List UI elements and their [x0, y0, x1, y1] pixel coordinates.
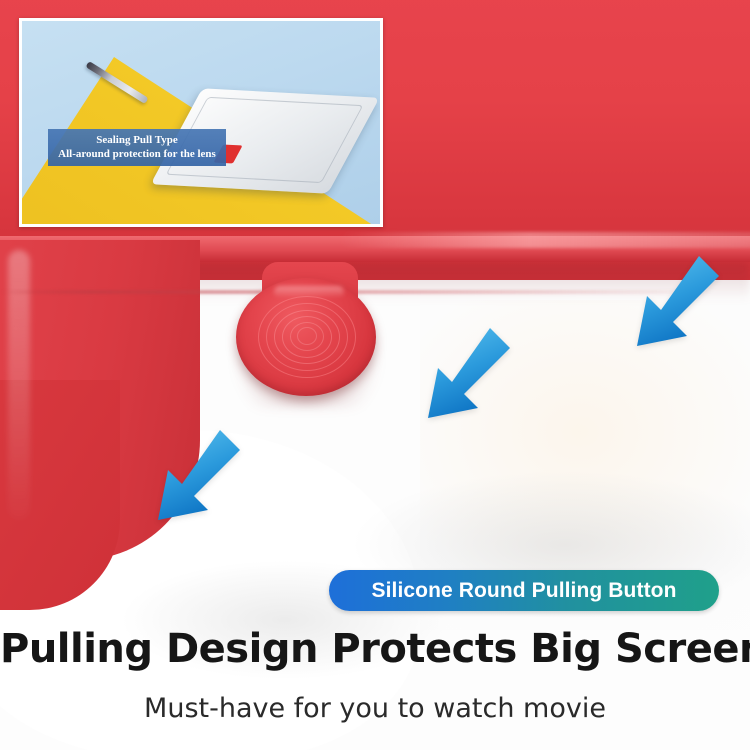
- arrow-down-left-icon-right: [617, 250, 727, 360]
- inset-feature-photo: Sealing Pull Type All-around protection …: [19, 18, 383, 227]
- headline: Pulling Design Protects Big Screen: [0, 625, 750, 673]
- button-ring-6-icon: [297, 327, 317, 345]
- feature-badge-label: Silicone Round Pulling Button: [371, 579, 676, 603]
- arrow-down-left-icon-left: [138, 424, 248, 534]
- product-image-canvas: Sealing Pull Type All-around protection …: [0, 0, 750, 750]
- inset-caption: Sealing Pull Type All-around protection …: [48, 129, 226, 166]
- feature-badge: Silicone Round Pulling Button: [329, 570, 719, 611]
- red-edge-highlight: [340, 232, 750, 248]
- arrow-down-left-icon-middle: [408, 322, 518, 432]
- inset-caption-line-1: Sealing Pull Type: [54, 133, 220, 147]
- subtitle: Must-have for you to watch movie: [0, 692, 750, 726]
- inset-caption-line-2: All-around protection for the lens: [54, 147, 220, 161]
